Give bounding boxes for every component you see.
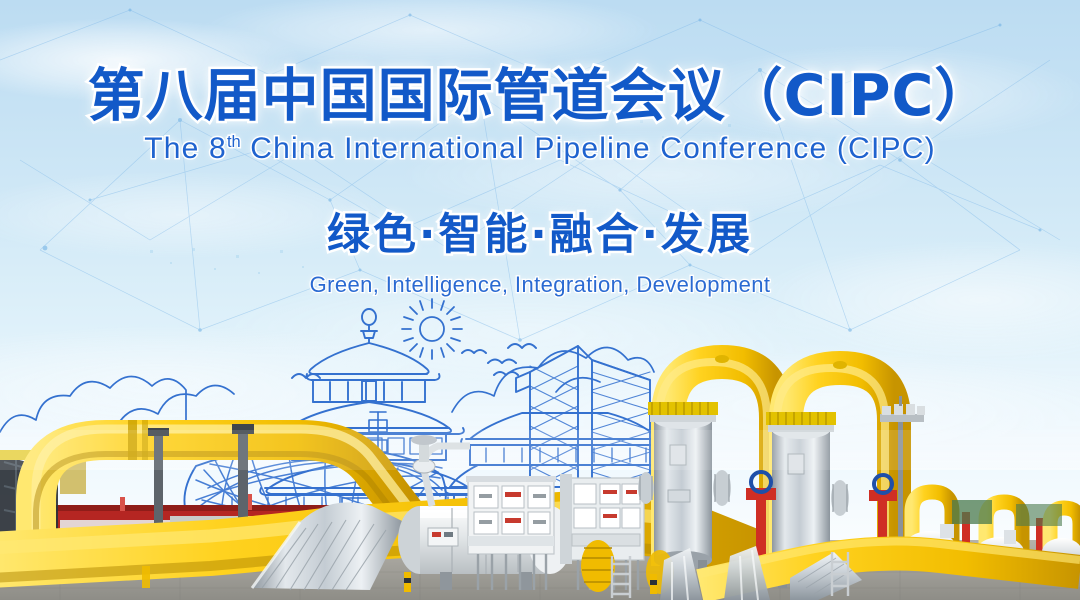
conference-title-chinese: 第八届中国国际管道会议（CIPC） bbox=[0, 0, 1080, 126]
conference-theme-chinese: 绿色·智能·融合·发展 bbox=[0, 200, 1080, 262]
banner-text-block: 第八届中国国际管道会议（CIPC） The 8th China Internat… bbox=[0, 0, 1080, 298]
conference-theme-english: Green, Intelligence, Integration, Develo… bbox=[0, 272, 1080, 298]
title-en-prefix: The 8 bbox=[144, 132, 227, 165]
conference-banner: 第八届中国国际管道会议（CIPC） The 8th China Internat… bbox=[0, 0, 1080, 600]
title-en-ordinal: th bbox=[227, 133, 241, 151]
conference-title-english: The 8th China International Pipeline Con… bbox=[0, 132, 1080, 166]
title-en-rest: China International Pipeline Conference … bbox=[241, 132, 936, 165]
